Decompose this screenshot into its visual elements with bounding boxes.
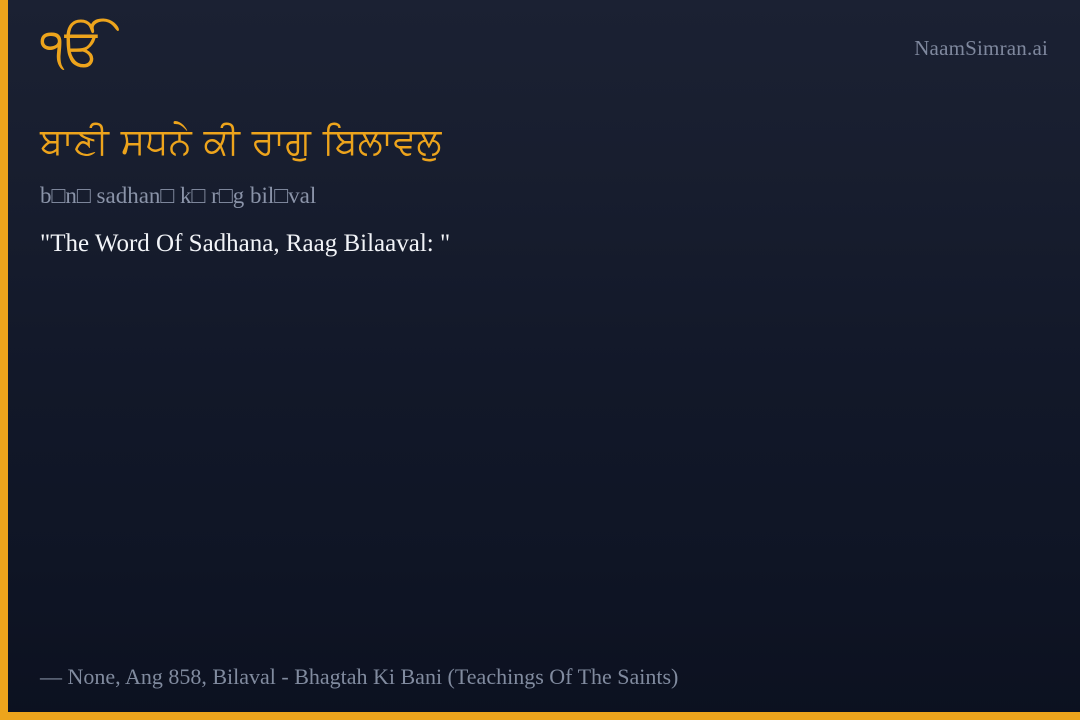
gurmukhi-line: ਬਾਣੀ ਸਧਨੇ ਕੀ ਰਾਗੁ ਬਿਲਾਵਲੁ <box>40 118 1040 167</box>
accent-bar-bottom <box>0 712 1080 720</box>
shabad-card: NaamSimran.ai ੴ ਬਾਣੀ ਸਧਨੇ ਕੀ ਰਾਗੁ ਬਿਲਾਵਲ… <box>0 0 1080 720</box>
transliteration-line: b□n□ sadhan□ k□ r□g bil□val <box>40 181 1040 211</box>
accent-bar-left <box>0 0 8 720</box>
ik-onkar-icon: ੴ <box>40 22 103 74</box>
attribution-footer: — None, Ang 858, Bilaval - Bhagtah Ki Ba… <box>40 663 678 692</box>
translation-line: "The Word Of Sadhana, Raag Bilaaval: " <box>40 227 1040 261</box>
brand-watermark: NaamSimran.ai <box>914 36 1048 61</box>
shabad-content: ਬਾਣੀ ਸਧਨੇ ਕੀ ਰਾਗੁ ਬਿਲਾਵਲੁ b□n□ sadhan□ k… <box>40 118 1040 260</box>
